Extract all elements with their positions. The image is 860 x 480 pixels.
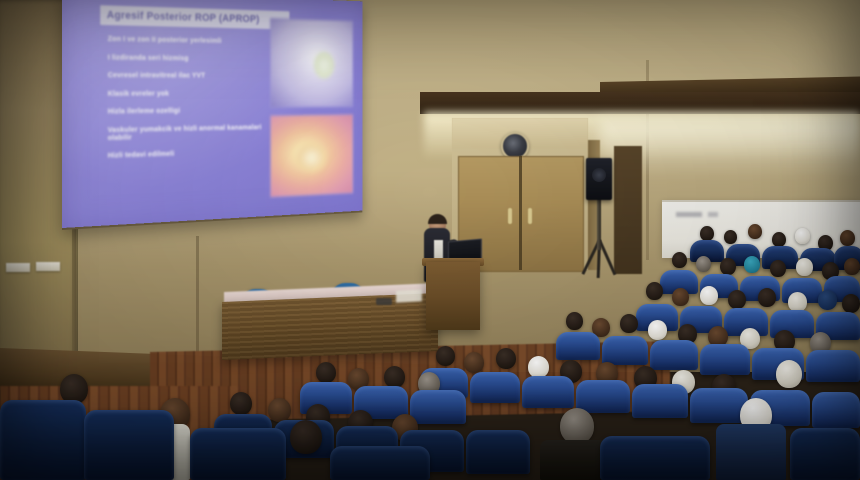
side-door[interactable] — [614, 146, 642, 274]
ceiling-beam — [420, 92, 860, 114]
audience-head — [740, 398, 772, 432]
auditorium-seat — [274, 420, 334, 458]
pa-tripod-pole — [597, 198, 601, 250]
panel-table-item — [376, 298, 392, 305]
projection-screen: Agresif Posterior ROP (APROP) Zon I ve z… — [62, 0, 362, 228]
door-handle-right[interactable] — [528, 208, 532, 224]
slide-bullet: Cevresel intravitreal ilac YVT — [108, 71, 274, 80]
fundus-photo-warm — [270, 114, 353, 198]
whiteboard-mark-1 — [676, 212, 702, 217]
auditorium-seat — [336, 426, 398, 466]
slide-bullet: Zon I ve zon II posterior yerlesimli — [108, 35, 274, 46]
slide-title: Agresif Posterior ROP (APROP) — [100, 9, 259, 25]
auditorium-seat — [600, 436, 710, 480]
wood-paneling-foreground — [0, 386, 240, 480]
slide-bullet: Hizla ilerleme ozelligi — [108, 106, 274, 116]
wooden-podium — [426, 262, 480, 330]
whiteboard — [662, 200, 860, 258]
slide-bullet: Hizli tedavi edilmeli — [108, 147, 274, 160]
door-split-line — [519, 156, 522, 270]
auditorium-photo: Agresif Posterior ROP (APROP) Zon I ve z… — [0, 0, 860, 480]
presenter-shirt — [434, 240, 443, 260]
slide-bullet: Vaskuler yumakcik ve hizli anormal kanam… — [108, 123, 274, 143]
auditorium-seat — [400, 430, 464, 472]
auditorium-seat — [750, 390, 810, 426]
auditorium-seat — [466, 430, 530, 474]
slide-bullet: Klasik evreler yok — [108, 89, 274, 98]
slide-bullet-list: Zon I ve zon II posterior yerlesimli I l… — [108, 35, 274, 169]
audience-torso — [540, 440, 610, 480]
audience-head — [560, 408, 594, 444]
door-handle-left[interactable] — [508, 208, 512, 224]
fundus-photo-pale — [270, 18, 353, 108]
sign-plaque-right — [36, 262, 60, 271]
auditorium-seat — [330, 446, 430, 480]
audience-head — [290, 420, 322, 454]
auditorium-seat — [690, 388, 748, 423]
sign-plaque-left — [6, 263, 30, 272]
pa-speaker-cone-icon — [592, 168, 606, 182]
retina-highlight — [296, 142, 327, 174]
auditorium-seat — [812, 392, 860, 428]
slide-bullet: I lizdiranda seri hizmisg — [108, 53, 274, 63]
slide-title-box: Agresif Posterior ROP (APROP) — [100, 5, 289, 29]
panel-table-slats — [222, 293, 438, 360]
auditorium-seat — [790, 428, 860, 480]
optic-disc-highlight — [314, 51, 334, 78]
whiteboard-mark-2 — [708, 212, 718, 217]
audience-head — [672, 370, 695, 394]
audience-head — [392, 414, 418, 441]
panel-table-paper — [396, 289, 422, 302]
audience-head — [712, 374, 736, 399]
audience-torso — [716, 424, 786, 480]
